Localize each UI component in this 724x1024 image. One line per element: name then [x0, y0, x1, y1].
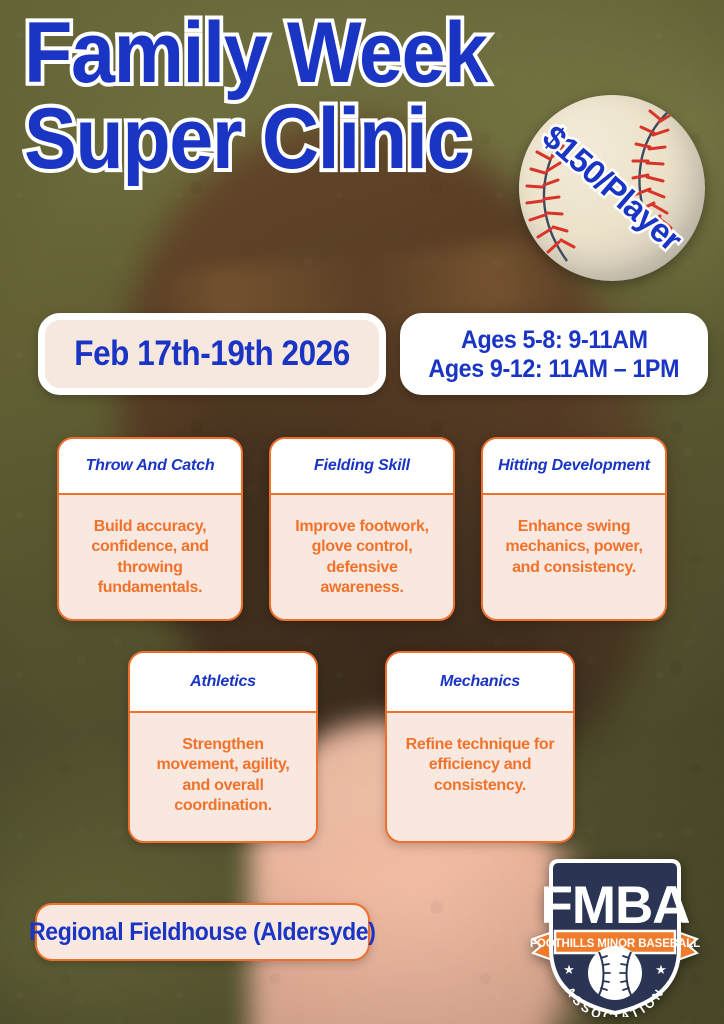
skill-card-header: Fielding Skill	[271, 439, 453, 495]
skill-card-title: Fielding Skill	[314, 457, 410, 475]
skill-card-fielding-skill: Fielding Skill Improve footwork, glove c…	[269, 437, 455, 621]
skill-card-title: Athletics	[190, 673, 256, 691]
venue-label: Regional Fieldhouse (Aldersyde)	[29, 918, 375, 947]
skill-card-hitting-development: Hitting Development Enhance swing mechan…	[481, 437, 667, 621]
schedule-line-2: Ages 9-12: 11AM – 1PM	[429, 355, 680, 383]
skill-card-body: Strengthen movement, agility, and overal…	[130, 713, 316, 841]
skill-card-header: Mechanics	[387, 653, 573, 713]
skill-card-mechanics: Mechanics Refine technique for efficienc…	[385, 651, 575, 843]
skill-card-header: Hitting Development	[483, 439, 665, 495]
skill-card-title: Mechanics	[440, 673, 520, 691]
skill-card-text: Refine technique for efficiency and cons…	[401, 735, 559, 796]
skill-card-text: Enhance swing mechanics, power, and cons…	[497, 517, 651, 578]
poster-canvas: Family Week Super Clinic	[0, 0, 724, 1024]
skill-card-body: Improve footwork, glove control, defensi…	[271, 495, 453, 619]
date-label: Feb 17th-19th 2026	[74, 334, 350, 374]
skill-card-text: Strengthen movement, agility, and overal…	[144, 735, 302, 817]
skill-card-throw-and-catch: Throw And Catch Build accuracy, confiden…	[57, 437, 243, 621]
date-pill: Feb 17th-19th 2026	[38, 313, 386, 395]
svg-text:★: ★	[563, 962, 575, 977]
skill-card-header: Athletics	[130, 653, 316, 713]
page-title: Family Week Super Clinic	[24, 14, 564, 180]
headline-line-2: Super Clinic	[24, 100, 521, 180]
skill-card-title: Throw And Catch	[86, 457, 215, 475]
venue-pill: Regional Fieldhouse (Aldersyde)	[35, 903, 370, 961]
svg-text:★: ★	[655, 962, 667, 977]
skill-card-body: Build accuracy, confidence, and throwing…	[59, 495, 241, 619]
skill-card-body: Enhance swing mechanics, power, and cons…	[483, 495, 665, 619]
headline-line-1: Family Week	[24, 14, 521, 94]
skill-card-text: Build accuracy, confidence, and throwing…	[73, 517, 227, 599]
schedule-line-1: Ages 5-8: 9-11AM	[461, 326, 648, 354]
skill-card-text: Improve footwork, glove control, defensi…	[285, 517, 439, 599]
fmba-logo: FMBA FOOTHILLS MINOR BASEBALL ★	[529, 857, 701, 1017]
fmba-crest-icon: FMBA FOOTHILLS MINOR BASEBALL ★	[529, 857, 701, 1017]
skill-card-header: Throw And Catch	[59, 439, 241, 495]
skill-card-body: Refine technique for efficiency and cons…	[387, 713, 573, 841]
schedule-pill: Ages 5-8: 9-11AM Ages 9-12: 11AM – 1PM	[400, 313, 708, 395]
skill-card-athletics: Athletics Strengthen movement, agility, …	[128, 651, 318, 843]
price-badge-baseball: $150/Player	[519, 95, 705, 281]
skill-card-title: Hitting Development	[498, 457, 650, 475]
svg-text:FMBA: FMBA	[540, 876, 689, 935]
